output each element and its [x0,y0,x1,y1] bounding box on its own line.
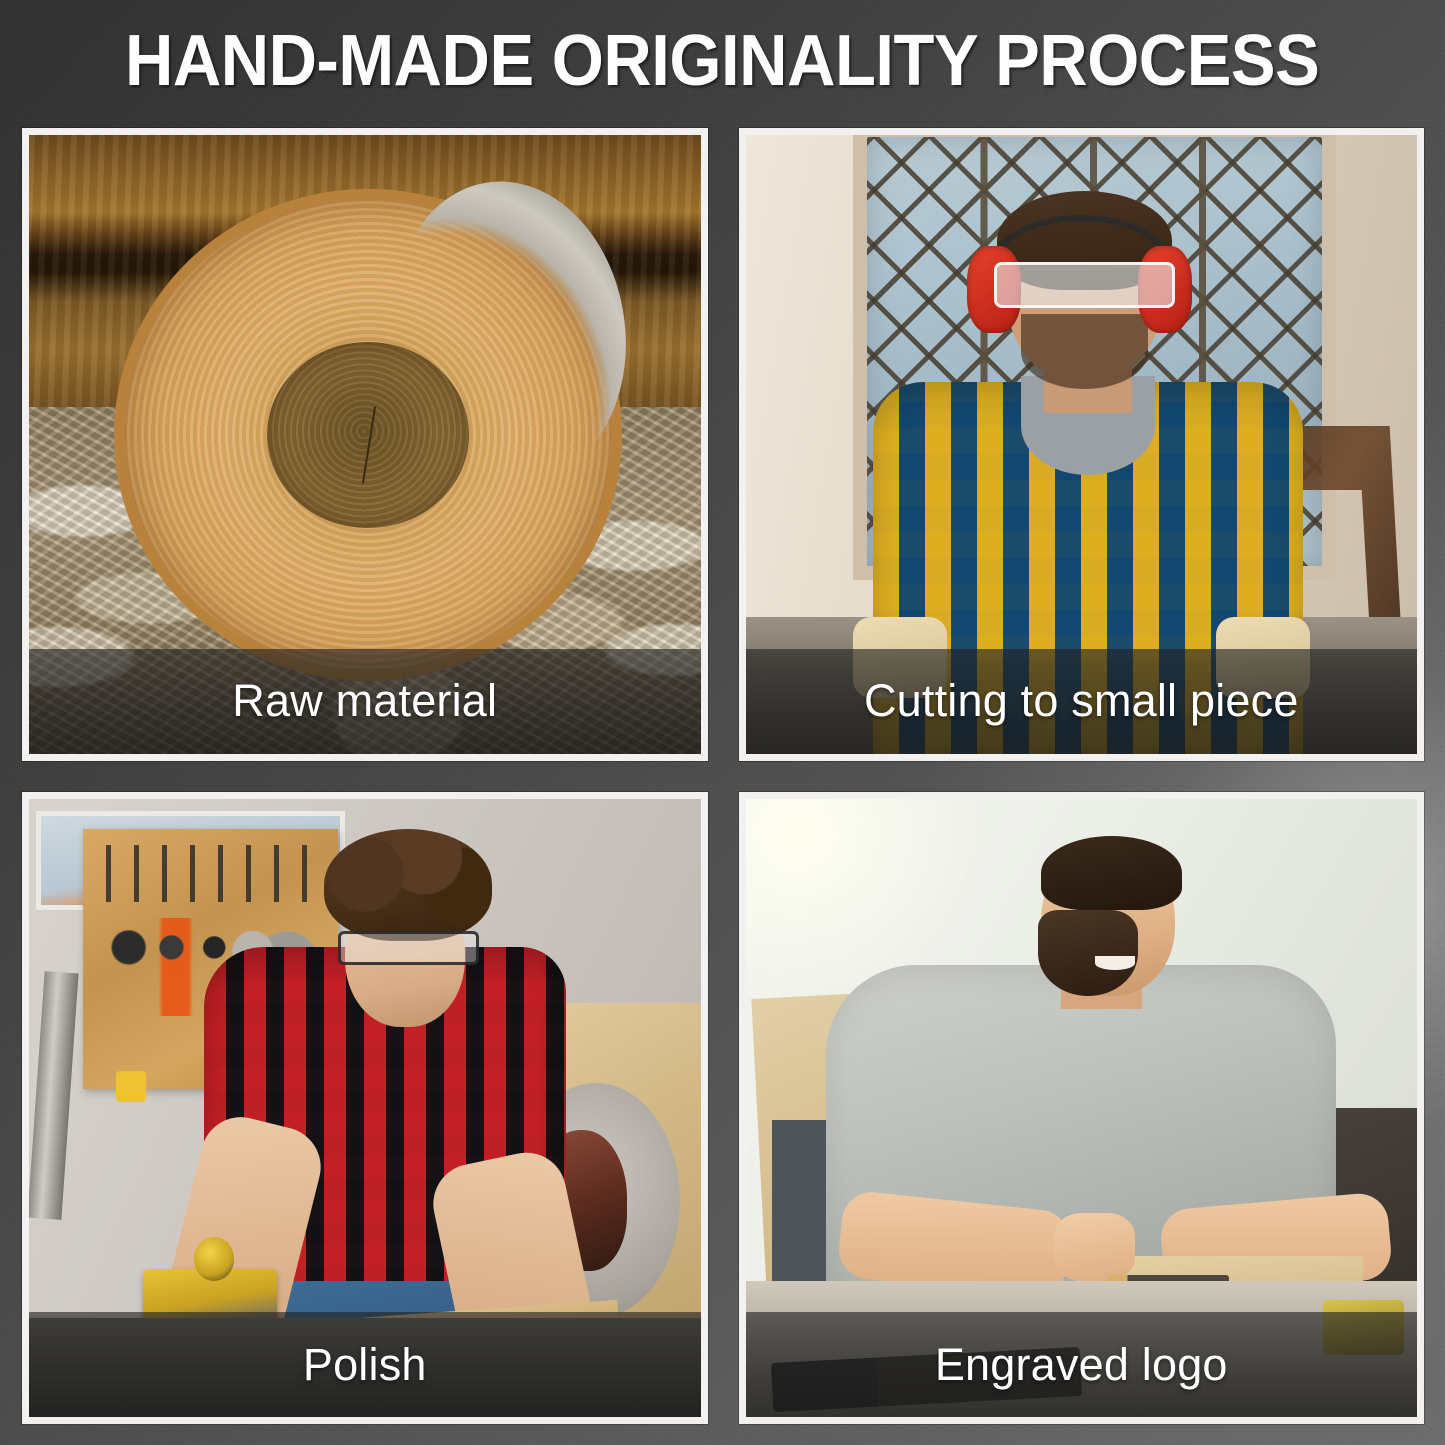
safety-goggles [994,262,1175,308]
log-cross-section [116,191,620,680]
poster-canvas: HAND-MADE ORIGINALITY PROCESS Raw materi… [0,0,1445,1445]
craftsman-beard [1038,910,1139,997]
tape-measure [116,1071,146,1102]
caption-text-polish: Polish [303,1339,427,1391]
panel-engraved-logo[interactable]: Engraved logo [739,792,1425,1425]
panel-raw-material[interactable]: Raw material [22,128,708,761]
page-title: HAND-MADE ORIGINALITY PROCESS [0,20,1445,102]
caption-text-raw-material: Raw material [232,675,497,727]
left-fist [1054,1213,1135,1281]
heartwood-core [267,342,468,528]
process-photo-grid: Raw material [22,128,1424,1424]
caption-band-cutting-to-small-piece: Cutting to small piece [746,649,1418,754]
worker-curly-hair [324,829,492,940]
worker-beard [1021,314,1149,388]
panel-polish[interactable]: Polish [22,792,708,1425]
caption-text-engraved-logo: Engraved logo [935,1339,1228,1391]
caption-band-polish: Polish [29,1312,701,1417]
caption-text-cutting-to-small-piece: Cutting to small piece [864,675,1299,727]
page-title-text: HAND-MADE ORIGINALITY PROCESS [125,20,1319,102]
caption-band-engraved-logo: Engraved logo [746,1312,1418,1417]
caption-band-raw-material: Raw material [29,649,701,754]
craftsman-hair [1041,836,1182,910]
safety-glasses [338,931,479,965]
smile [1095,956,1135,970]
panel-cutting-to-small-piece[interactable]: Cutting to small piece [739,128,1425,761]
